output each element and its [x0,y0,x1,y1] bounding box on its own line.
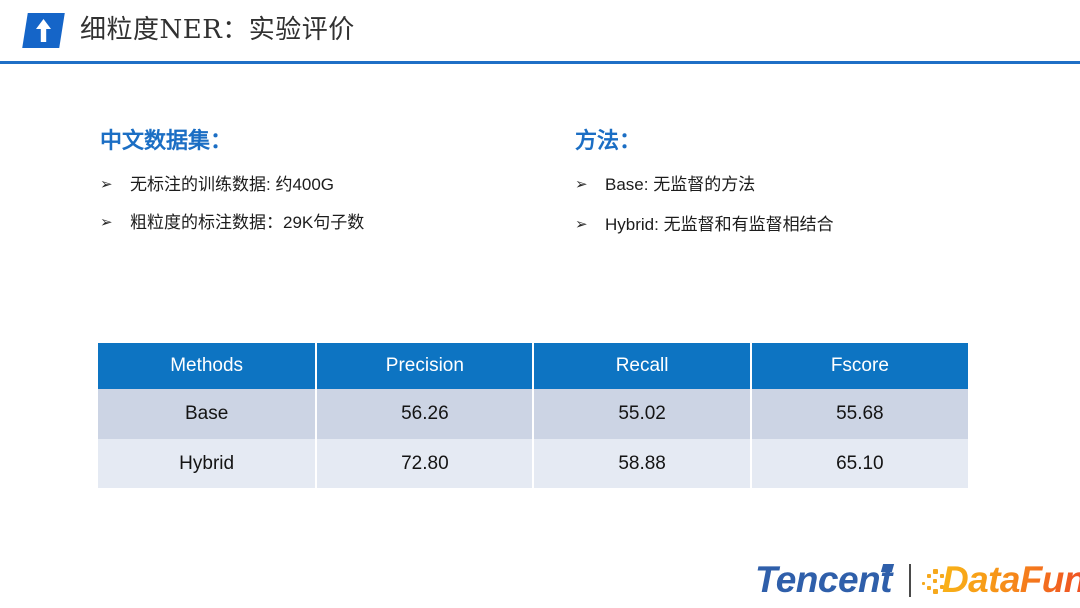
list-item-label: Hybrid: 无监督和有监督相结合 [605,213,1045,236]
tencent-wordmark-icon: Tencent [755,558,892,602]
page-title: 细粒度NER：实验评价 [80,9,355,51]
cell-recall: 58.88 [533,439,750,488]
dataset-section: 中文数据集： ➢ 无标注的训练数据: 约400G ➢ 粗粒度的标注数据：29K句… [100,126,560,249]
cell-fscore: 65.10 [751,439,968,488]
methods-heading: 方法： [575,126,1045,156]
arrow-bullet-icon: ➢ [575,213,605,236]
arrow-bullet-icon: ➢ [575,173,605,196]
slide-header: 细粒度NER：实验评价 [0,0,1080,62]
arrow-bullet-icon: ➢ [100,211,130,234]
methods-bullet-list: ➢ Base: 无监督的方法 ➢ Hybrid: 无监督和有监督相结合 [575,173,1045,236]
column-header-precision: Precision [316,343,533,389]
list-item: ➢ 无标注的训练数据: 约400G [100,173,560,196]
dataset-heading: 中文数据集： [100,126,560,156]
tencent-arrow-logo-icon [22,13,65,48]
arrow-bullet-icon: ➢ [100,173,130,196]
results-table: Methods Precision Recall Fscore Base 56.… [98,343,968,488]
table-row: Hybrid 72.80 58.88 65.10 [98,439,968,488]
methods-section: 方法： ➢ Base: 无监督的方法 ➢ Hybrid: 无监督和有监督相结合 [575,126,1045,253]
cell-fscore: 55.68 [751,389,968,439]
slide: 细粒度NER：实验评价 中文数据集： ➢ 无标注的训练数据: 约400G ➢ 粗… [0,0,1080,608]
column-header-methods: Methods [98,343,316,389]
footer-logos: Tencent DataFun. [752,556,1072,606]
cell-precision: 56.26 [316,389,533,439]
cell-precision: 72.80 [316,439,533,488]
list-item: ➢ 粗粒度的标注数据：29K句子数 [100,211,560,234]
column-header-recall: Recall [533,343,750,389]
list-item: ➢ Hybrid: 无监督和有监督相结合 [575,213,1045,236]
logo-divider [909,564,911,597]
datafun-wordmark-icon: DataFun. [942,558,1080,602]
cell-method: Hybrid [98,439,316,488]
header-divider [0,61,1080,64]
dataset-bullet-list: ➢ 无标注的训练数据: 约400G ➢ 粗粒度的标注数据：29K句子数 [100,173,560,234]
list-item-label: 粗粒度的标注数据：29K句子数 [130,211,560,234]
list-item-label: Base: 无监督的方法 [605,173,1045,196]
cell-recall: 55.02 [533,389,750,439]
table-row: Base 56.26 55.02 55.68 [98,389,968,439]
table-header-row: Methods Precision Recall Fscore [98,343,968,389]
list-item-label: 无标注的训练数据: 约400G [130,173,560,196]
tencent-flag-icon [881,564,894,572]
column-header-fscore: Fscore [751,343,968,389]
list-item: ➢ Base: 无监督的方法 [575,173,1045,196]
cell-method: Base [98,389,316,439]
